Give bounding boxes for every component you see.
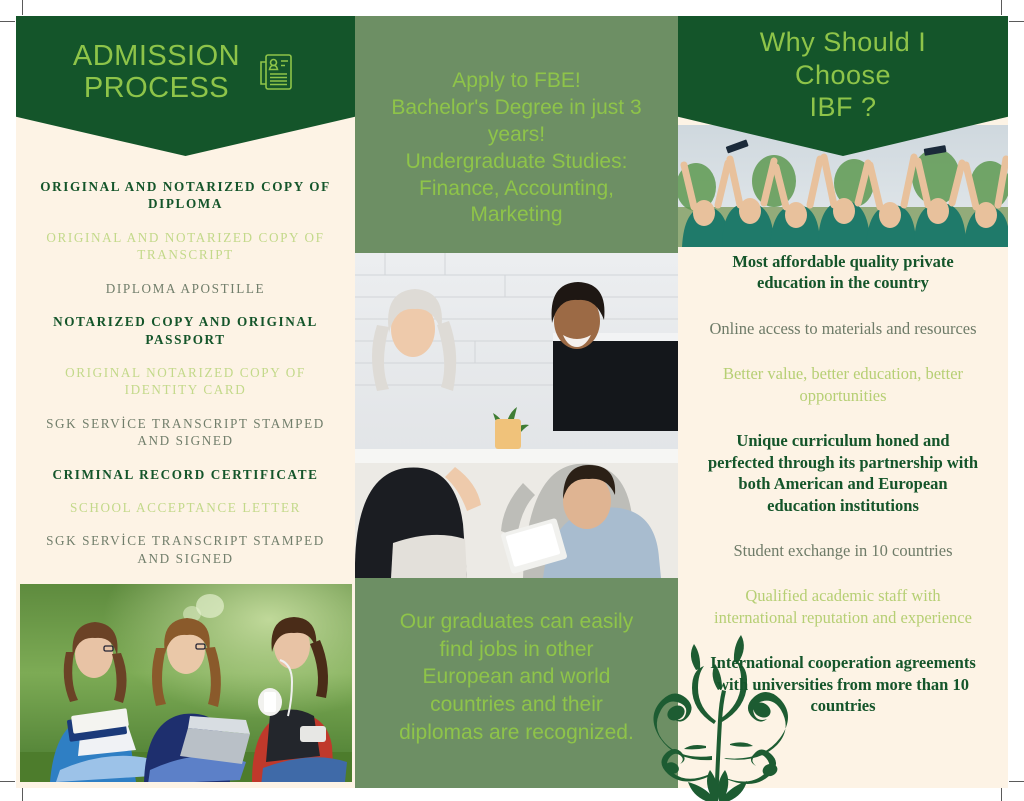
crop-mark-bottom-right-h [1009,781,1024,782]
benefits-list: Most affordable quality private educatio… [678,251,1008,741]
crop-mark-bottom-left-h [0,781,15,782]
page-title-admission: ADMISSIONPROCESS [73,40,240,105]
crop-mark-bottom-left-v [22,786,23,801]
benefit-item: Most affordable quality private educatio… [706,251,980,294]
apply-to-fbe-text: Apply to FBE! Bachelor's Degree in just … [355,68,678,229]
benefit-item: Online access to materials and resources [706,318,980,339]
requirement-item: CRIMINAL RECORD CERTIFICATE [38,466,333,483]
admission-requirements-list: ORIGINAL AND NOTARIZED COPY OF DIPLOMA O… [16,178,355,617]
admission-process-header: ADMISSIONPROCESS [16,16,355,156]
panel-program-highlights: Apply to FBE! Bachelor's Degree in just … [355,16,678,788]
benefit-item: Better value, better education, better o… [706,363,980,406]
benefit-item: Student exchange in 10 countries [706,540,980,561]
benefit-item: International cooperation agreements wit… [706,652,980,716]
panel-why-choose-ibf: Why Should I ChooseIBF ? Most affordable… [678,16,1008,788]
requirement-item: SGK SERVİCE TRANSCRIPT STAMPED AND SIGNE… [38,415,333,450]
panel-admission-process: ADMISSIONPROCESS [16,16,355,788]
requirement-item: ORIGINAL AND NOTARIZED COPY OF DIPLOMA [38,178,333,213]
crop-mark-top-right-h [1009,21,1024,22]
benefit-item: Unique curriculum honed and perfected th… [706,430,980,516]
brochure-page: ADMISSIONPROCESS [0,0,1024,801]
crop-mark-top-left-v [22,0,23,15]
requirement-item: SGK SERVİCE TRANSCRIPT STAMPED AND SIGNE… [38,532,333,567]
benefit-item: Qualified academic staff with internatio… [706,585,980,628]
document-person-icon [254,50,298,94]
brochure-sheet: ADMISSIONPROCESS [16,16,1008,788]
requirement-item: ORIGINAL NOTARIZED COPY OF IDENTITY CARD [38,364,333,399]
graduates-jobs-text: Our graduates can easily find jobs in ot… [355,608,678,747]
crop-mark-bottom-right-v [1001,786,1002,801]
page-title-why-choose: Why Should I ChooseIBF ? [694,26,992,123]
requirement-item: NOTARIZED COPY AND ORIGINAL PASSPORT [38,313,333,348]
crop-mark-top-left-h [0,21,15,22]
crop-mark-top-right-v [1001,0,1002,15]
students-on-grass-photo [20,584,352,782]
requirement-item: SCHOOL ACCEPTANCE LETTER [38,499,333,516]
requirement-item: ORIGINAL AND NOTARIZED COPY OF TRANSCRIP… [38,229,333,264]
requirement-item: DIPLOMA APOSTILLE [38,280,333,297]
advising-meeting-photo [355,253,678,578]
